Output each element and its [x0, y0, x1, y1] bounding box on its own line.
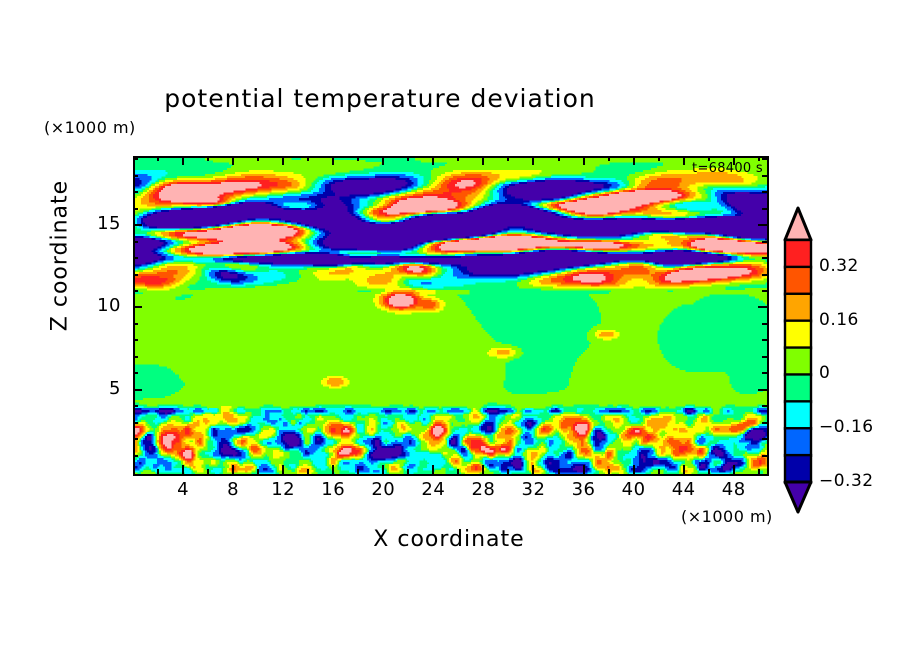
x-tick-label: 28	[458, 479, 508, 500]
x-tick-bottom	[758, 469, 760, 474]
colorbar-label: 0	[819, 363, 830, 383]
y-tick-left	[133, 389, 142, 391]
x-tick-label: 8	[208, 479, 258, 500]
colorbar-label: −0.32	[819, 471, 874, 491]
x-tick-top	[457, 156, 459, 161]
y-tick-left	[133, 438, 138, 440]
figure-canvas: potential temperature deviation (×1000 m…	[0, 0, 904, 654]
y-tick-left	[133, 405, 138, 407]
x-tick-top	[658, 156, 660, 161]
y-tick-left	[133, 422, 138, 424]
x-tick-bottom	[157, 469, 159, 474]
page-title: potential temperature deviation	[0, 84, 760, 113]
x-tick-label: 24	[408, 479, 458, 500]
contour-field	[135, 158, 767, 474]
x-tick-bottom	[558, 469, 560, 474]
x-tick-bottom	[658, 469, 660, 474]
x-tick-top	[332, 156, 334, 165]
y-tick-right	[762, 158, 767, 160]
x-tick-bottom	[307, 469, 309, 474]
x-tick-bottom	[583, 465, 585, 474]
x-axis-title: X coordinate	[133, 527, 765, 552]
y-tick-left	[133, 175, 138, 177]
x-tick-label: 12	[258, 479, 308, 500]
x-tick-top	[382, 156, 384, 165]
y-tick-left	[133, 191, 138, 193]
x-tick-bottom	[282, 465, 284, 474]
x-tick-bottom	[708, 469, 710, 474]
colorbar-label: −0.16	[819, 417, 874, 437]
x-tick-bottom	[482, 465, 484, 474]
z-unit-label: (×1000 m)	[44, 118, 136, 137]
x-tick-bottom	[608, 469, 610, 474]
colorbar-swatches	[783, 206, 813, 516]
x-tick-bottom	[507, 469, 509, 474]
x-tick-top	[257, 156, 259, 161]
y-tick-right	[758, 224, 767, 226]
x-tick-bottom	[532, 465, 534, 474]
y-tick-right	[762, 191, 767, 193]
y-tick-left	[133, 339, 138, 341]
x-tick-top	[683, 156, 685, 165]
y-tick-right	[762, 241, 767, 243]
x-tick-bottom	[457, 469, 459, 474]
x-tick-bottom	[357, 469, 359, 474]
y-tick-right	[762, 372, 767, 374]
x-tick-top	[583, 156, 585, 165]
x-tick-top	[633, 156, 635, 165]
colorbar-label: 0.32	[819, 256, 859, 276]
x-tick-top	[532, 156, 534, 165]
x-tick-top	[307, 156, 309, 161]
x-tick-bottom	[407, 469, 409, 474]
y-tick-right	[758, 306, 767, 308]
x-tick-top	[407, 156, 409, 161]
x-tick-bottom	[207, 469, 209, 474]
x-tick-top	[507, 156, 509, 161]
y-tick-label: 10	[75, 295, 121, 316]
colorbar-label: 0.16	[819, 310, 859, 330]
y-tick-right	[762, 422, 767, 424]
y-tick-label: 15	[75, 213, 121, 234]
x-tick-top	[157, 156, 159, 161]
x-tick-top	[207, 156, 209, 161]
y-tick-label: 5	[75, 378, 121, 399]
y-tick-left	[133, 323, 138, 325]
x-tick-bottom	[182, 465, 184, 474]
y-tick-left	[133, 158, 138, 160]
x-tick-top	[608, 156, 610, 161]
x-tick-label: 16	[308, 479, 358, 500]
y-tick-left	[133, 241, 138, 243]
x-tick-bottom	[257, 469, 259, 474]
x-tick-bottom	[733, 465, 735, 474]
x-tick-label: 20	[358, 479, 408, 500]
x-tick-top	[182, 156, 184, 165]
x-tick-top	[558, 156, 560, 161]
y-tick-right	[762, 438, 767, 440]
y-tick-left	[133, 356, 138, 358]
y-tick-left	[133, 372, 138, 374]
y-tick-right	[762, 405, 767, 407]
x-tick-label: 48	[709, 479, 759, 500]
x-tick-top	[282, 156, 284, 165]
x-tick-bottom	[683, 465, 685, 474]
y-tick-right	[762, 257, 767, 259]
y-tick-left	[133, 306, 142, 308]
x-tick-top	[482, 156, 484, 165]
y-tick-right	[762, 455, 767, 457]
y-tick-left	[133, 455, 138, 457]
y-tick-left	[133, 208, 138, 210]
y-tick-left	[133, 224, 142, 226]
x-tick-bottom	[232, 465, 234, 474]
colorbar	[783, 206, 813, 516]
y-tick-right	[758, 389, 767, 391]
contour-plot-area: t=68400 s	[133, 156, 769, 476]
x-tick-label: 44	[659, 479, 709, 500]
y-tick-left	[133, 257, 138, 259]
y-tick-left	[133, 290, 138, 292]
y-tick-right	[762, 323, 767, 325]
x-tick-top	[357, 156, 359, 161]
y-tick-right	[762, 208, 767, 210]
y-tick-right	[762, 274, 767, 276]
x-tick-bottom	[432, 465, 434, 474]
x-tick-bottom	[633, 465, 635, 474]
y-axis-title: Z coordinate	[48, 156, 73, 356]
x-tick-label: 32	[508, 479, 558, 500]
y-tick-left	[133, 274, 138, 276]
x-tick-label: 40	[609, 479, 659, 500]
time-stamp: t=68400 s	[692, 161, 763, 176]
y-tick-right	[762, 290, 767, 292]
x-tick-bottom	[382, 465, 384, 474]
x-tick-top	[432, 156, 434, 165]
x-tick-label: 4	[158, 479, 208, 500]
y-tick-right	[762, 339, 767, 341]
y-tick-right	[762, 356, 767, 358]
x-unit-label: (×1000 m)	[681, 507, 773, 526]
x-tick-label: 36	[559, 479, 609, 500]
x-tick-top	[232, 156, 234, 165]
x-tick-bottom	[332, 465, 334, 474]
